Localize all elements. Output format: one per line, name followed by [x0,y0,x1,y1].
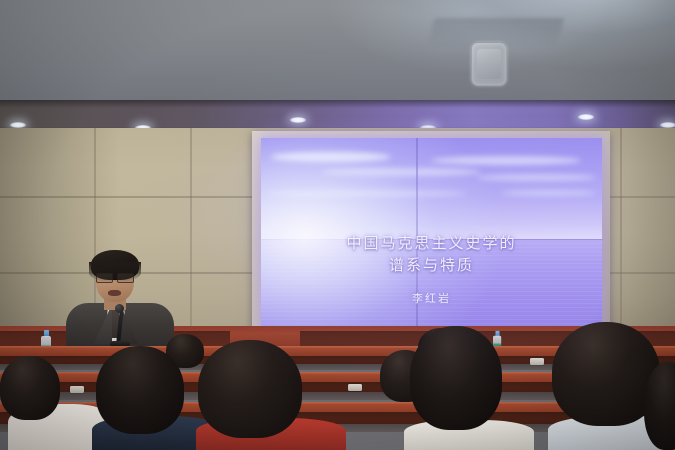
audience-head-foreground [96,346,184,434]
projection-screen-frame: 中国马克思主义史学的 谱系与特质 李红岩 [252,131,610,339]
audience-head-foreground [0,356,60,420]
desk-power-outlet [70,386,84,393]
speaker-person [60,248,185,338]
eyeglasses-icon [96,273,134,281]
screen-tile-seam-vertical [416,138,418,332]
ceiling [0,0,675,112]
ceiling-speaker-panel-icon [471,42,507,86]
slide-sky [261,138,602,239]
audience-head-foreground [198,340,302,438]
lecture-hall-photo: 中国马克思主义史学的 谱系与特质 李红岩 [0,0,675,450]
audience-head-foreground [410,326,502,430]
projection-screen[interactable]: 中国马克思主义史学的 谱系与特质 李红岩 [261,138,602,332]
desk-power-outlet [530,358,544,365]
panel-seam [190,128,192,343]
downlight-icon [578,114,594,120]
speaker-mouth [108,290,121,296]
slide-ocean [261,239,602,332]
table-microphone-icon [115,304,124,313]
screen-tile-seam-horizontal [261,239,602,241]
desk-power-outlet [348,384,362,391]
